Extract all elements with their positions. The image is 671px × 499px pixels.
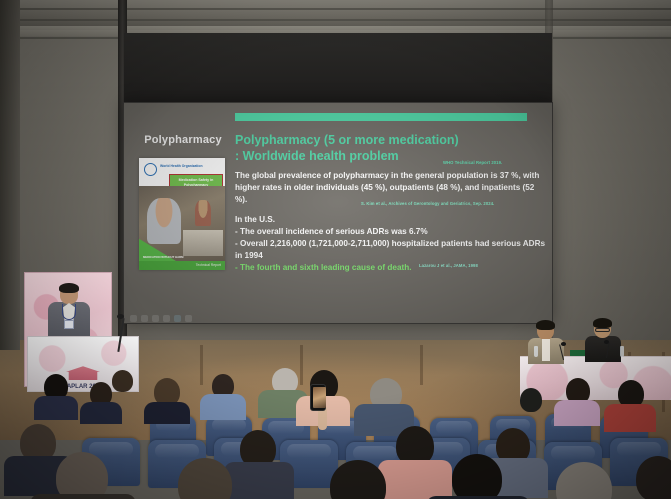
- audience-shoulders: [378, 460, 452, 499]
- audience-shoulders: [604, 404, 656, 432]
- water-bottle-left: [534, 346, 538, 357]
- panelist-left-shirt: [542, 339, 550, 361]
- audience-shoulders: [34, 396, 78, 420]
- audience-shoulders: [554, 400, 600, 426]
- audience-head-front: [452, 454, 502, 499]
- audience-head-front: [636, 456, 671, 499]
- panelist-right-glasses-icon: [595, 328, 610, 332]
- panel-microphone-left-icon: [561, 342, 566, 346]
- audience-head: [112, 370, 133, 392]
- screen-border: [123, 102, 553, 324]
- audience-shoulders: [80, 402, 122, 424]
- panelist-right-torso: [585, 336, 621, 362]
- audience: [0, 372, 671, 499]
- ceiling-rail: [0, 8, 671, 10]
- left-wall-shadow: [0, 0, 20, 350]
- audience-shoulders-front: [30, 494, 136, 499]
- audience-head: [520, 388, 542, 412]
- presenter-lanyard: [62, 304, 76, 320]
- water-bottle-right: [620, 346, 624, 357]
- audience-head-front: [56, 452, 108, 499]
- audience-shoulders: [144, 402, 190, 424]
- conference-hall-photo: Polypharmacy Polypharmacy (5 or more med…: [0, 0, 671, 499]
- smartphone: [310, 384, 326, 411]
- audience-shoulders: [200, 394, 246, 420]
- ceiling-rail: [0, 19, 671, 21]
- panelist-right: [585, 320, 621, 360]
- projector-screen-housing: [124, 33, 552, 105]
- panel-nameplate: [570, 350, 585, 356]
- ceiling-rail: [553, 37, 671, 39]
- panelist-left-hair: [536, 320, 555, 330]
- presenter-hair: [59, 283, 79, 293]
- panelist-right-hair: [593, 318, 612, 328]
- presenter-badge: [64, 320, 74, 329]
- audience-shoulders: [224, 462, 294, 499]
